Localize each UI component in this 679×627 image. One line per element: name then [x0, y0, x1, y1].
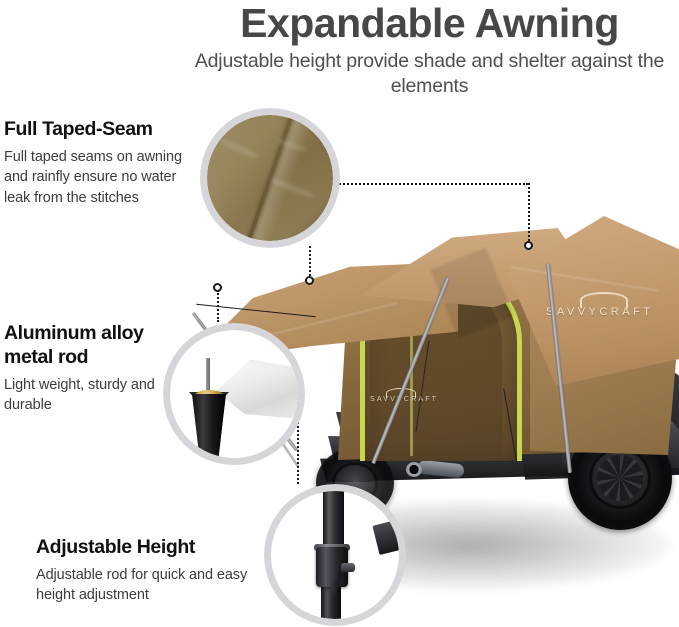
fabric-wrinkle: [219, 137, 258, 160]
feature-block-adjustable-height: Adjustable Height Adjustable rod for qui…: [36, 536, 266, 606]
feature-title: Aluminum alloy metal rod: [4, 322, 194, 370]
callout-circle-taped-seam: [200, 108, 340, 248]
connector-line-rod: [217, 290, 219, 322]
header: Expandable Awning Adjustable height prov…: [180, 0, 679, 99]
page-title: Expandable Awning: [180, 0, 679, 45]
feature-description: Full taped seams on awning and rainfly e…: [4, 147, 204, 209]
feature-block-aluminum-alloy-metal-rod: Aluminum alloy metal rod Light weight, s…: [4, 322, 194, 416]
feature-title: Full Taped-Seam: [4, 118, 204, 142]
callout-circle-adjustable-height: [264, 484, 406, 626]
page-subtitle: Adjustable height provide shade and shel…: [180, 49, 679, 99]
infographic-canvas: Expandable Awning Adjustable height prov…: [0, 0, 679, 627]
feature-description: Light weight, sturdy and durable: [4, 375, 194, 416]
exhaust-tip: [406, 462, 422, 477]
connector-node-pole-tip: [213, 283, 222, 292]
brand-wordmark-secondary: SAVVYCRAFT: [370, 396, 438, 403]
connector-node-awning-seam: [305, 276, 314, 285]
connector-line-seam-drop: [309, 246, 311, 280]
connector-line-seam-vertical: [528, 183, 530, 245]
feature-title: Adjustable Height: [36, 536, 266, 560]
brand-wordmark: SAVVYCRAFT: [546, 306, 654, 318]
clamp-lever: [341, 563, 355, 572]
callout-image-adjustable-height: [271, 491, 399, 619]
connector-line-seam-horizontal: [332, 183, 528, 185]
connector-node-canopy: [524, 241, 533, 250]
callout-image-taped-seam: [207, 115, 333, 241]
feature-description: Adjustable rod for quick and easy height…: [36, 565, 266, 606]
white-fabric-panel: [216, 358, 298, 430]
rod-tip-pin: [206, 358, 210, 394]
wheel-spokes: [597, 455, 643, 501]
rod-foot-body: [192, 394, 226, 458]
feature-block-full-taped-seam: Full Taped-Seam Full taped seams on awni…: [4, 118, 204, 209]
